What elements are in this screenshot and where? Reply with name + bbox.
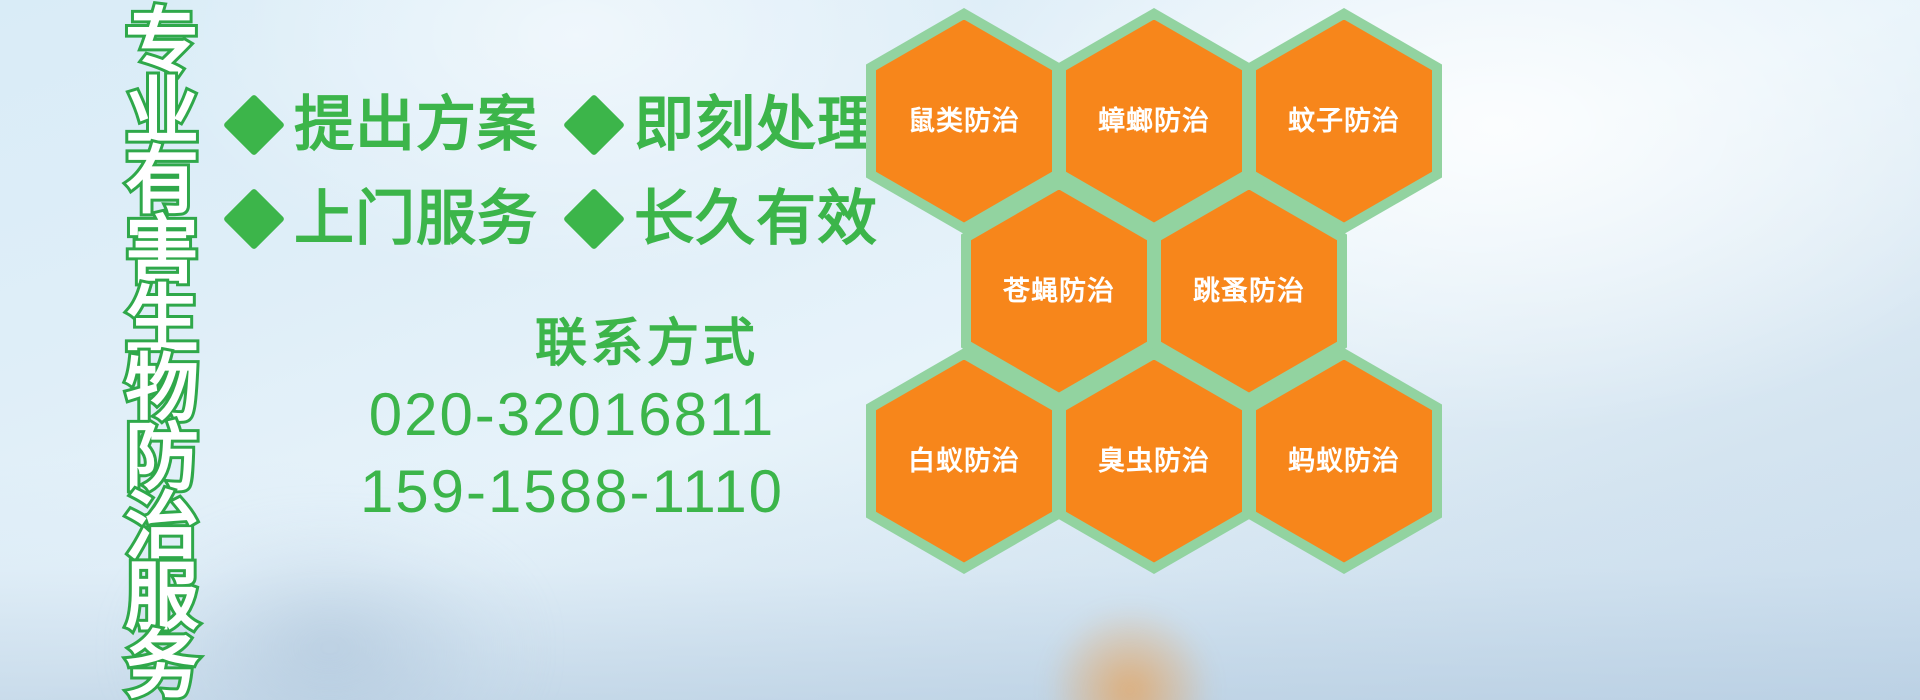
contact-block: 联系方式 020-32016811 159-1588-1110 bbox=[232, 312, 872, 531]
vertical-headline-char-9: 务 bbox=[125, 631, 199, 700]
service-hexagon-grid: 鼠类防治 蟑螂防治 蚊子防治 苍蝇防治 跳蚤防治 白蚁防治 bbox=[860, 0, 1480, 580]
hexagon-inner: 臭虫防治 bbox=[1066, 360, 1242, 563]
hexagon-inner: 鼠类防治 bbox=[876, 20, 1052, 223]
feature-row: 提出方案 即刻处理 bbox=[232, 78, 872, 172]
feature-list: 提出方案 即刻处理 上门服务 长久有效 bbox=[232, 78, 872, 266]
hexagon-inner: 苍蝇防治 bbox=[971, 190, 1147, 393]
hexagon-inner: 蚊子防治 bbox=[1256, 20, 1432, 223]
hexagon-inner: 蟑螂防治 bbox=[1066, 20, 1242, 223]
feature-item: 提出方案 bbox=[232, 95, 538, 155]
hexagon-label: 臭虫防治 bbox=[1098, 448, 1210, 475]
feature-label: 上门服务 bbox=[294, 189, 538, 249]
feature-label: 长久有效 bbox=[634, 189, 878, 249]
phone-number-landline[interactable]: 020-32016811 bbox=[272, 377, 872, 454]
vertical-headline-char-2: 有 bbox=[125, 146, 199, 215]
hexagon-inner: 跳蚤防治 bbox=[1161, 190, 1337, 393]
hexagon-label: 鼠类防治 bbox=[908, 108, 1020, 135]
hexagon-label: 蚂蚁防治 bbox=[1288, 448, 1400, 475]
vertical-headline-char-4: 生 bbox=[125, 285, 199, 354]
hexagon-label: 跳蚤防治 bbox=[1193, 278, 1305, 305]
hexagon-label: 蟑螂防治 bbox=[1098, 108, 1210, 135]
diamond-bullet-icon bbox=[563, 94, 625, 156]
vertical-headline-char-3: 害 bbox=[125, 216, 199, 285]
diamond-bullet-icon bbox=[223, 188, 285, 250]
feature-item: 即刻处理 bbox=[572, 95, 878, 155]
hexagon-inner: 白蚁防治 bbox=[876, 360, 1052, 563]
pest-control-banner: 专 业 有 害 生 物 防 治 服 务 提出方案 即刻处理 上门服务 bbox=[0, 0, 1920, 700]
feature-item: 上门服务 bbox=[232, 189, 538, 249]
vertical-headline: 专 业 有 害 生 物 防 治 服 务 bbox=[108, 8, 216, 688]
feature-label: 提出方案 bbox=[294, 95, 538, 155]
hexagon-label: 白蚁防治 bbox=[908, 448, 1020, 475]
phone-number-mobile[interactable]: 159-1588-1110 bbox=[272, 454, 872, 531]
diamond-bullet-icon bbox=[563, 188, 625, 250]
vertical-headline-char-5: 物 bbox=[125, 354, 199, 423]
vertical-headline-char-0: 专 bbox=[125, 8, 199, 77]
diamond-bullet-icon bbox=[223, 94, 285, 156]
background-blur-orange bbox=[1050, 610, 1210, 700]
hexagon-label: 蚊子防治 bbox=[1288, 108, 1400, 135]
hexagon-inner: 蚂蚁防治 bbox=[1256, 360, 1432, 563]
vertical-headline-char-1: 业 bbox=[125, 77, 199, 146]
feature-item: 长久有效 bbox=[572, 189, 878, 249]
vertical-headline-char-8: 服 bbox=[125, 562, 199, 631]
contact-title: 联系方式 bbox=[422, 312, 872, 377]
hexagon-label: 苍蝇防治 bbox=[1003, 278, 1115, 305]
feature-row: 上门服务 长久有效 bbox=[232, 172, 872, 266]
vertical-headline-char-6: 防 bbox=[125, 423, 199, 492]
feature-label: 即刻处理 bbox=[634, 95, 878, 155]
vertical-headline-char-7: 治 bbox=[125, 492, 199, 561]
